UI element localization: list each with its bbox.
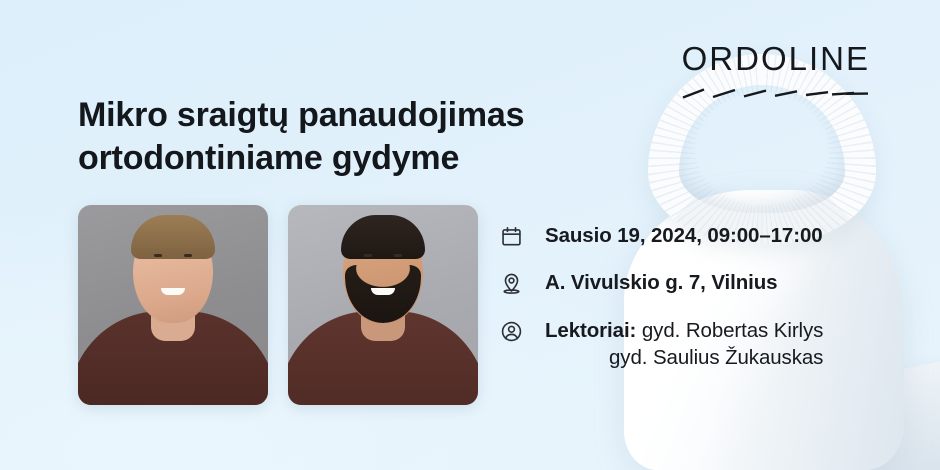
lecturer-photo-1 bbox=[78, 205, 268, 405]
lecturer-photos bbox=[78, 205, 478, 405]
dental-cast-base bbox=[740, 360, 940, 470]
hair bbox=[341, 215, 425, 259]
portrait-figure bbox=[288, 205, 478, 405]
lecturer-name-1: gyd. Robertas Kirlys bbox=[636, 319, 823, 342]
eye-right bbox=[394, 254, 402, 257]
eye-right bbox=[184, 254, 192, 257]
eye-left bbox=[364, 254, 372, 257]
lecturers-text: Lektoriai: gyd. Robertas Kirlys gyd. Sau… bbox=[545, 317, 823, 372]
page-title: Mikro sraigtų panaudojimas ortodontiniam… bbox=[78, 94, 524, 180]
location-pin-icon bbox=[500, 272, 523, 295]
title-line-2: ortodontiniame gydyme bbox=[78, 137, 524, 180]
title-line-1: Mikro sraigtų panaudojimas bbox=[78, 94, 524, 137]
lecturers-label: Lektoriai: bbox=[545, 319, 636, 342]
eye-left bbox=[154, 254, 162, 257]
detail-row-lecturers: Lektoriai: gyd. Robertas Kirlys gyd. Sau… bbox=[500, 317, 910, 372]
person-circle-icon bbox=[500, 320, 523, 343]
ordoline-logo: ORDOLINE bbox=[680, 42, 870, 100]
lecturer-photo-2 bbox=[288, 205, 478, 405]
event-details: Sausio 19, 2024, 09:00–17:00 A. Vivulski… bbox=[500, 222, 910, 372]
lecturer-name-2: gyd. Saulius Žukauskas bbox=[545, 344, 823, 371]
detail-row-date: Sausio 19, 2024, 09:00–17:00 bbox=[500, 222, 910, 249]
portrait-figure bbox=[78, 205, 268, 405]
calendar-icon bbox=[500, 225, 523, 248]
event-location-text: A. Vivulskio g. 7, Vilnius bbox=[545, 269, 777, 296]
smile bbox=[371, 288, 395, 295]
logo-wordmark: ORDOLINE bbox=[680, 42, 870, 75]
smile bbox=[161, 288, 185, 295]
detail-row-location: A. Vivulskio g. 7, Vilnius bbox=[500, 269, 910, 296]
logo-dash-underline bbox=[680, 84, 870, 100]
event-date-text: Sausio 19, 2024, 09:00–17:00 bbox=[545, 222, 823, 249]
hair bbox=[131, 215, 215, 259]
event-banner: ORDOLINE Mikro sraigtų panaudojimas orto… bbox=[0, 0, 940, 470]
